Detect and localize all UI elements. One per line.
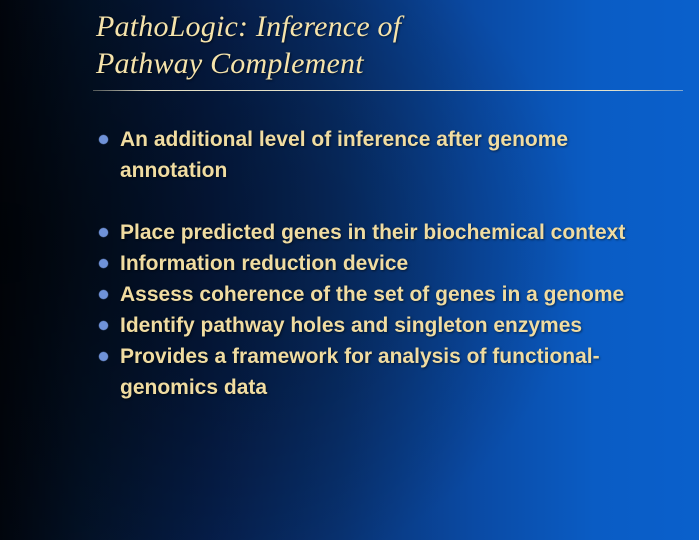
bullet-dot-icon [99, 321, 108, 330]
list-item: An additional level of inference after g… [98, 124, 673, 186]
bullet-text: An additional level of inference after g… [120, 124, 673, 186]
bullet-dot-icon [99, 228, 108, 237]
bullet-text: Identify pathway holes and singleton enz… [120, 310, 673, 341]
bullet-text: Provides a framework for analysis of fun… [120, 341, 673, 403]
list-item: Identify pathway holes and singleton enz… [98, 310, 673, 341]
bullet-dot-icon [99, 135, 108, 144]
bullet-dot-icon [99, 290, 108, 299]
bullet-list: An additional level of inference after g… [98, 124, 673, 403]
title-line-2: Pathway Complement [96, 45, 676, 82]
presentation-slide: PathoLogic: Inference of Pathway Complem… [0, 0, 699, 540]
title-divider-rule [93, 90, 683, 91]
bullet-text: Place predicted genes in their biochemic… [120, 217, 673, 248]
bullet-text: Information reduction device [120, 248, 673, 279]
slide-title: PathoLogic: Inference of Pathway Complem… [96, 8, 676, 82]
bullet-dot-icon [99, 352, 108, 361]
bullet-dot-icon [99, 259, 108, 268]
bullet-text: Assess coherence of the set of genes in … [120, 279, 673, 310]
slide-content: PathoLogic: Inference of Pathway Complem… [0, 0, 699, 540]
list-item: Information reduction device [98, 248, 673, 279]
list-item: Provides a framework for analysis of fun… [98, 341, 673, 403]
list-item: Place predicted genes in their biochemic… [98, 217, 673, 248]
title-line-1: PathoLogic: Inference of [96, 8, 676, 45]
list-item: Assess coherence of the set of genes in … [98, 279, 673, 310]
